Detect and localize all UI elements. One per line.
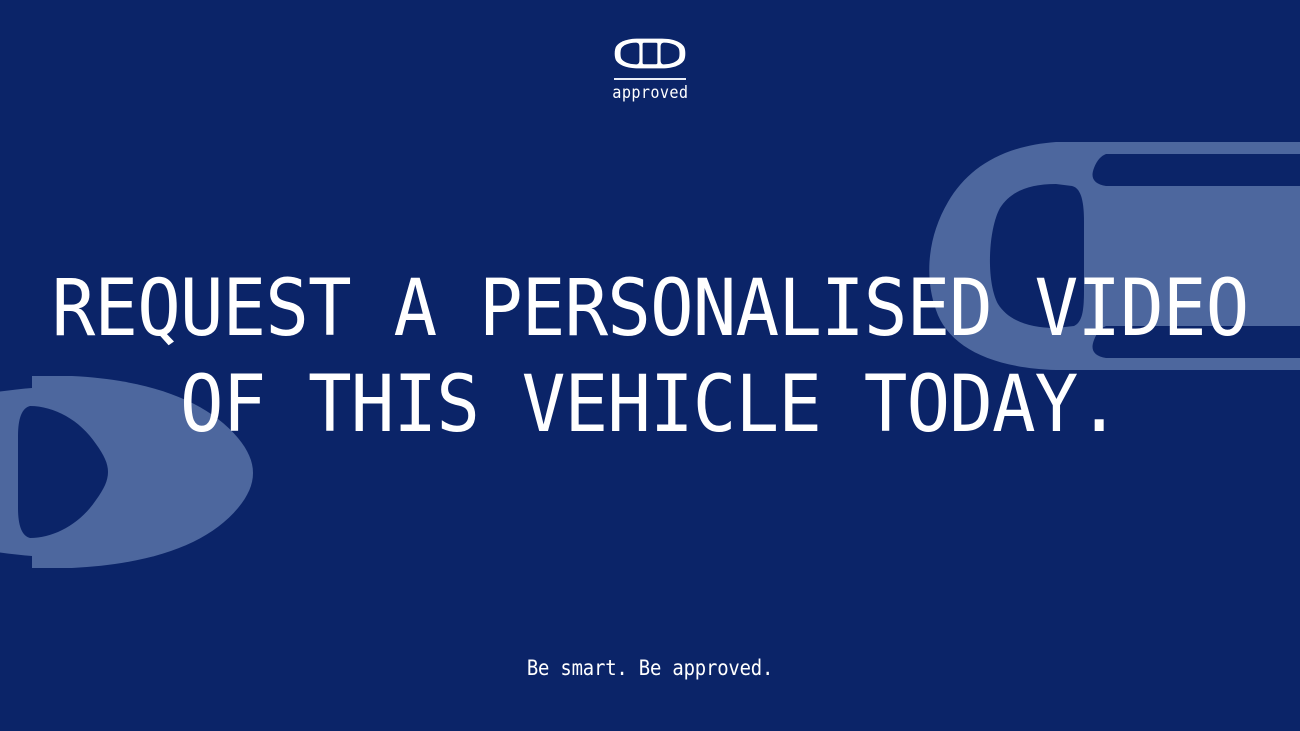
brand-logo: approved bbox=[0, 38, 1300, 102]
car-top-view-icon bbox=[614, 38, 686, 69]
headline: REQUEST A PERSONALISED VIDEO OF THIS VEH… bbox=[0, 268, 1300, 446]
logo-wordmark: approved bbox=[612, 85, 688, 102]
headline-line-1: REQUEST A PERSONALISED VIDEO bbox=[46, 268, 1255, 350]
headline-line-2: OF THIS VEHICLE TODAY. bbox=[46, 364, 1255, 446]
logo-divider bbox=[614, 78, 686, 80]
tagline: Be smart. Be approved. bbox=[65, 655, 1235, 681]
promo-banner: approved REQUEST A PERSONALISED VIDEO OF… bbox=[0, 0, 1300, 731]
